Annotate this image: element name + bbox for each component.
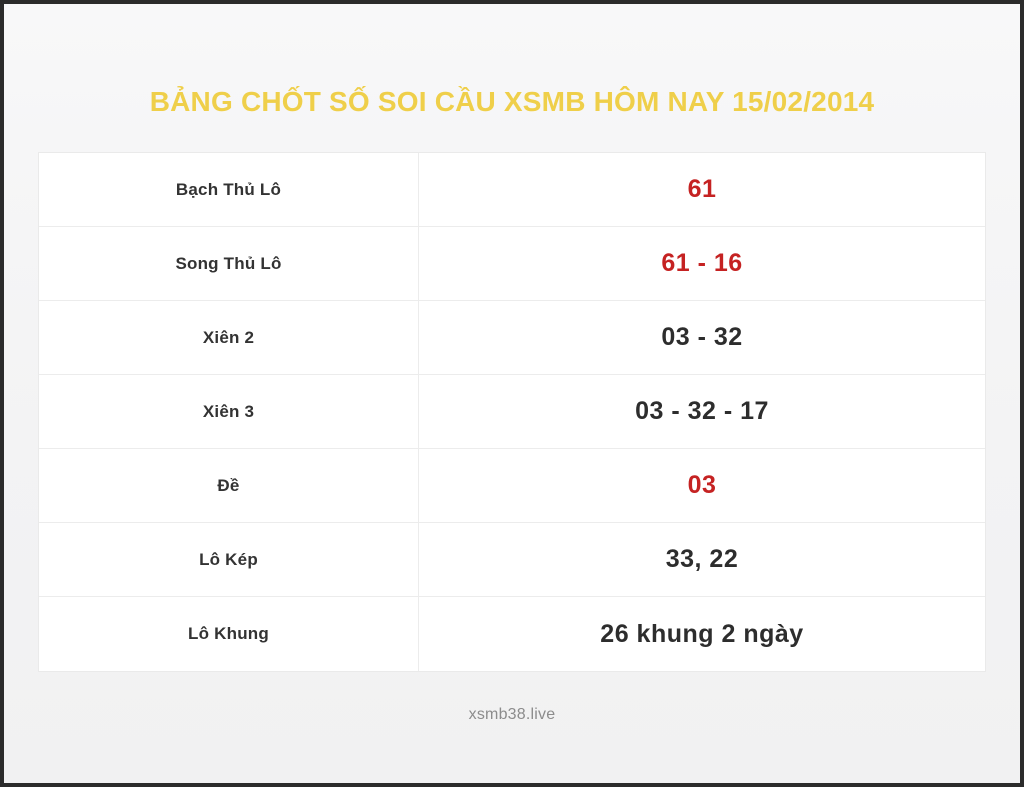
row-value: 61 [419,153,985,226]
row-label: Bạch Thủ Lô [39,153,419,226]
table-row: Lô Kép 33, 22 [39,523,985,597]
row-value: 03 [419,449,985,522]
table-row: Bạch Thủ Lô 61 [39,153,985,227]
row-label: Xiên 2 [39,301,419,374]
row-label: Xiên 3 [39,375,419,448]
row-label: Lô Khung [39,597,419,671]
prediction-table: Bạch Thủ Lô 61 Song Thủ Lô 61 - 16 Xiên … [38,152,986,672]
row-value: 03 - 32 [419,301,985,374]
table-row: Xiên 3 03 - 32 - 17 [39,375,985,449]
page-title: BẢNG CHỐT SỐ SOI CẦU XSMB HÔM NAY 15/02/… [4,84,1020,120]
row-label: Lô Kép [39,523,419,596]
table-row: Đề 03 [39,449,985,523]
site-watermark: xsmb38.live [4,706,1020,724]
table-row: Song Thủ Lô 61 - 16 [39,227,985,301]
page-canvas: BẢNG CHỐT SỐ SOI CẦU XSMB HÔM NAY 15/02/… [4,4,1020,783]
row-value: 33, 22 [419,523,985,596]
row-label: Song Thủ Lô [39,227,419,300]
row-label: Đề [39,449,419,522]
row-value: 03 - 32 - 17 [419,375,985,448]
row-value: 61 - 16 [419,227,985,300]
table-row: Lô Khung 26 khung 2 ngày [39,597,985,671]
table-row: Xiên 2 03 - 32 [39,301,985,375]
row-value: 26 khung 2 ngày [419,597,985,671]
